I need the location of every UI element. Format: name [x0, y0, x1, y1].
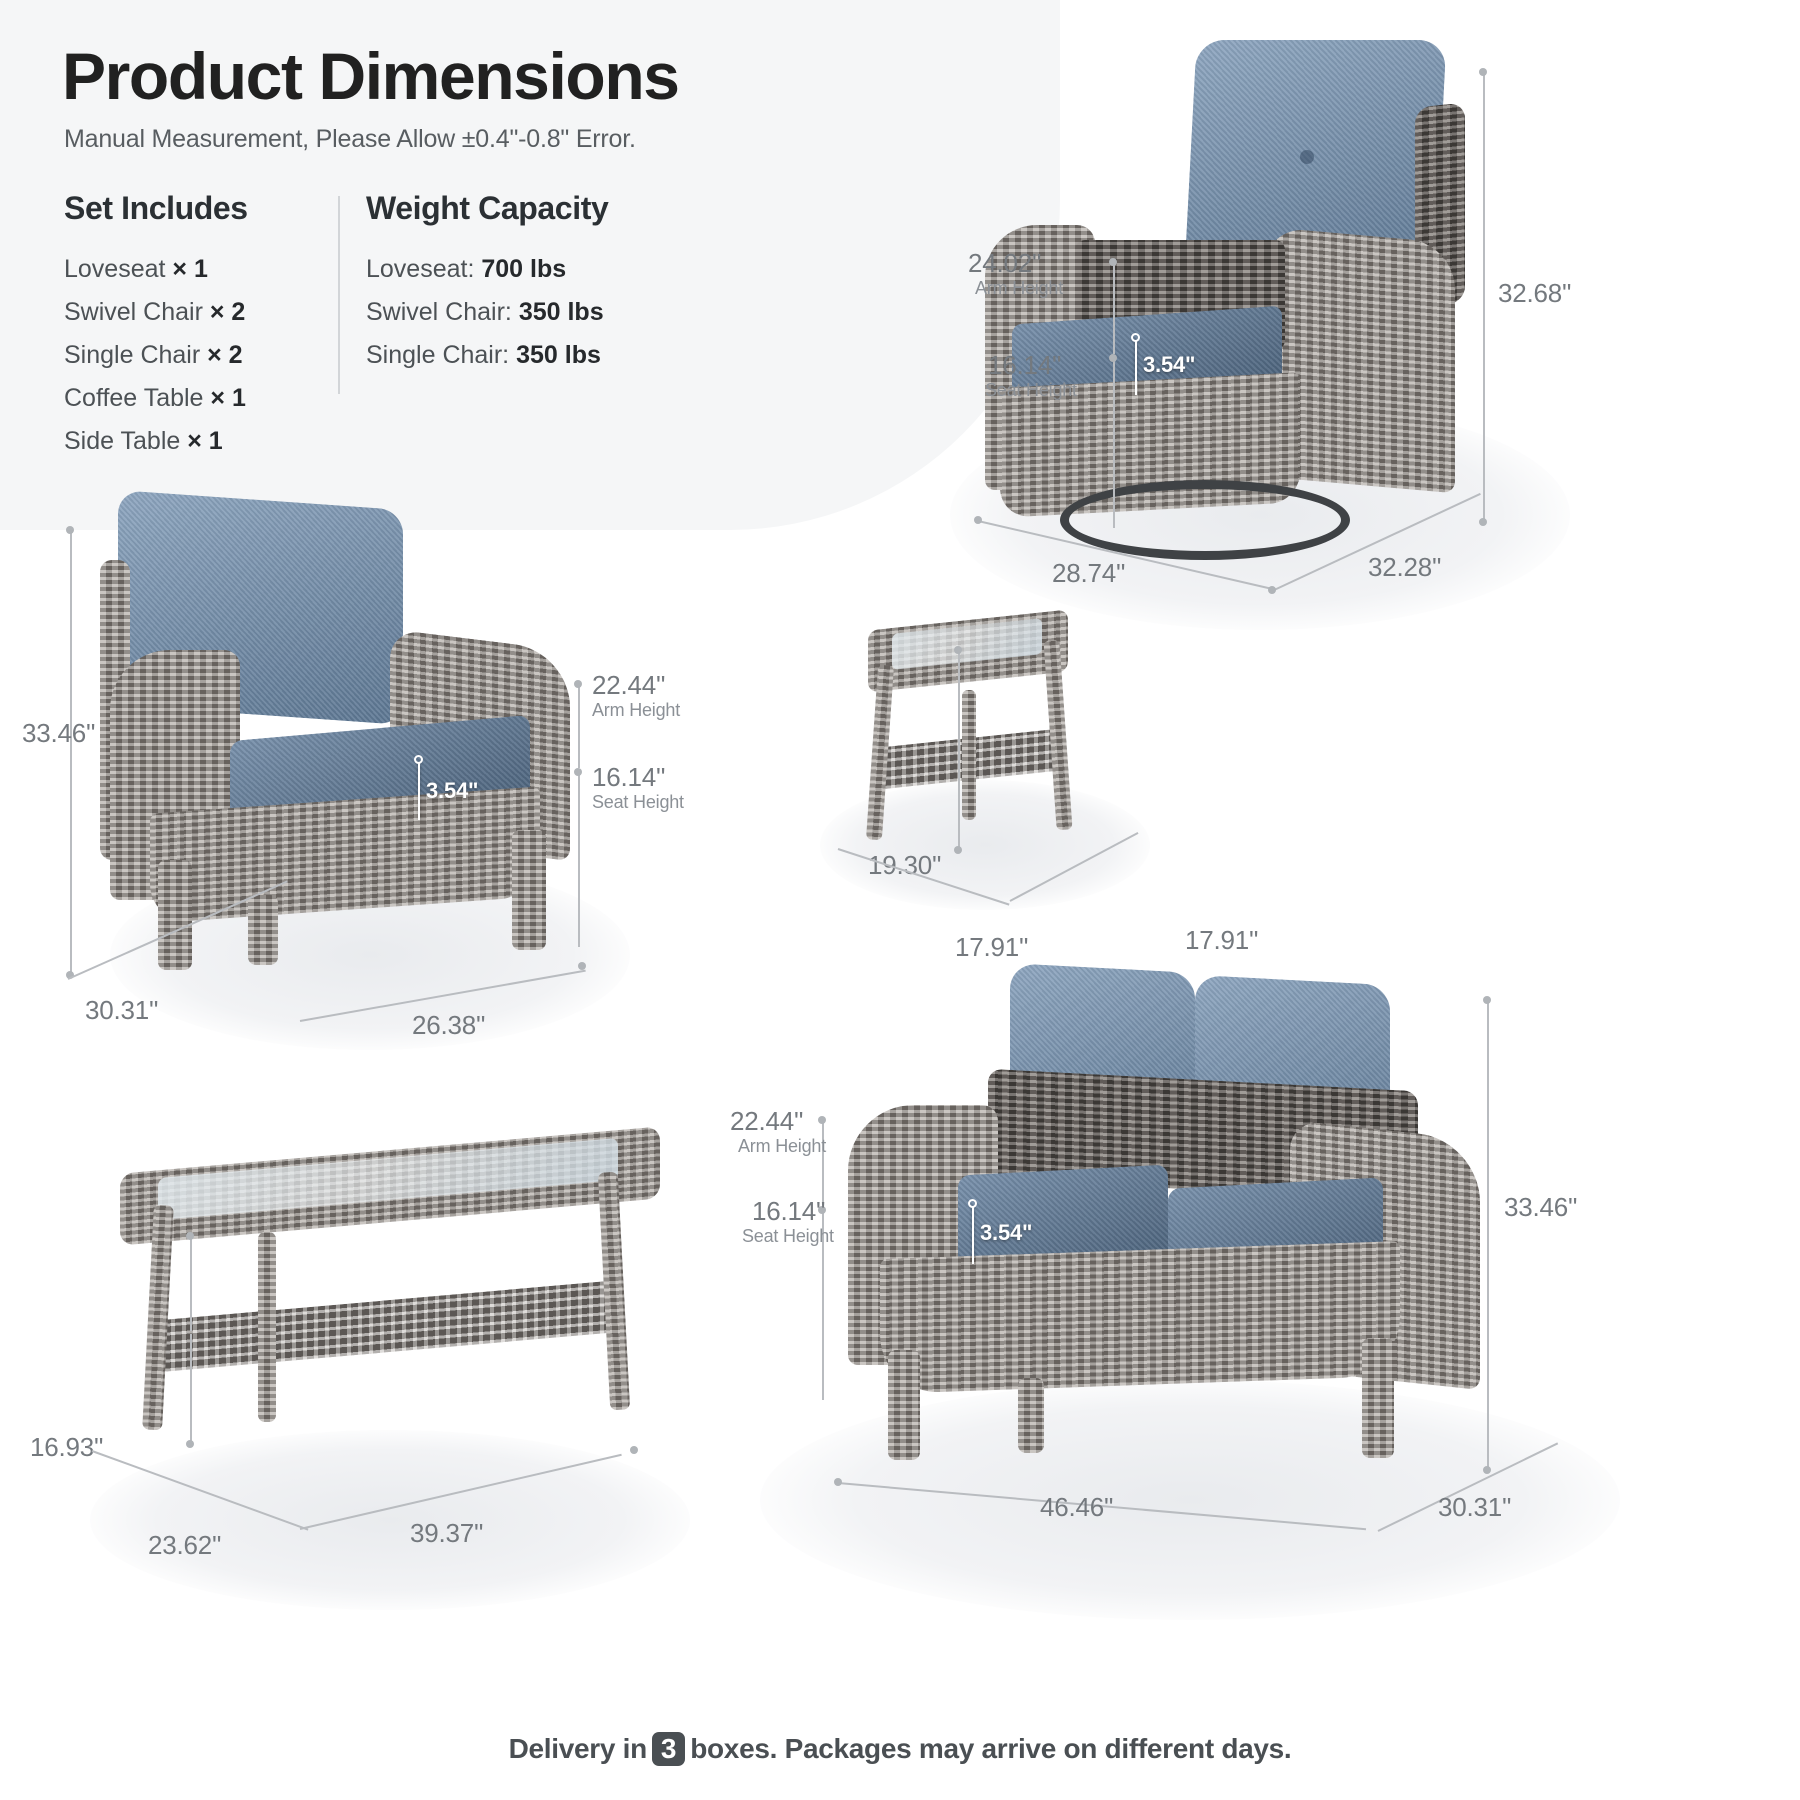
set-item-name: Single Chair	[64, 341, 200, 369]
dim-tick	[974, 516, 982, 524]
side-table-leg	[962, 690, 976, 820]
weight-capacity-heading: Weight Capacity	[366, 190, 608, 227]
capacity-item-value: 350 lbs	[516, 341, 601, 369]
swivel-total-height-value: 32.68"	[1498, 278, 1571, 309]
dim-line	[958, 650, 960, 850]
swivel-seat-height-value: 16.14"	[988, 350, 1061, 381]
dim-tick	[834, 1478, 842, 1486]
page-title: Product Dimensions	[62, 38, 679, 114]
loveseat-width-value: 46.46"	[1040, 1492, 1113, 1523]
swivel-width-value: 28.74"	[1052, 558, 1125, 589]
dim-tick	[1483, 996, 1491, 1004]
dim-line	[578, 772, 580, 947]
set-item-name: Loveseat	[64, 255, 165, 283]
box-count-badge: 3	[652, 1732, 685, 1766]
capacity-item-value: 700 lbs	[481, 255, 566, 283]
coffee-table-shadow	[90, 1430, 690, 1610]
loveseat-seat-height-caption: Seat Height	[742, 1226, 834, 1247]
dim-tick	[1479, 68, 1487, 76]
single-chair-cushion-thickness-value: 3.54"	[426, 778, 478, 804]
dim-tick	[66, 526, 74, 534]
set-item-qty: × 2	[207, 341, 242, 369]
coffee-table-leg	[258, 1232, 276, 1422]
dim-tick	[186, 1440, 194, 1448]
dim-tick	[954, 646, 962, 654]
loveseat-arm-height-caption: Arm Height	[738, 1136, 826, 1157]
list-item: Coffee Table × 1	[64, 377, 246, 420]
set-item-qty: × 2	[210, 298, 245, 326]
list-item: Swivel Chair × 2	[64, 291, 246, 334]
single-chair-leg	[512, 830, 546, 950]
dim-line	[190, 1334, 192, 1444]
set-includes-heading: Set Includes	[64, 190, 248, 227]
swivel-arm-height-value: 24.02"	[968, 248, 1041, 279]
capacity-item-value: 350 lbs	[519, 298, 604, 326]
loveseat-leg	[1362, 1338, 1394, 1458]
dim-tick	[1131, 333, 1140, 342]
swivel-arm-height-caption: Arm Height	[975, 278, 1063, 299]
weight-capacity-list: Loveseat: 700 lbs Swivel Chair: 350 lbs …	[366, 248, 604, 377]
dim-tick	[414, 755, 423, 764]
single-chair-width-value: 26.38"	[412, 1010, 485, 1041]
list-item: Loveseat × 1	[64, 248, 246, 291]
delivery-suffix: boxes. Packages may arrive on different …	[690, 1733, 1291, 1764]
page-subtitle: Manual Measurement, Please Allow ±0.4"-0…	[64, 125, 636, 154]
set-item-qty: × 1	[187, 427, 222, 455]
single-chair-total-height-value: 33.46"	[22, 718, 95, 749]
dim-tick	[1109, 258, 1117, 266]
dim-tick	[1479, 518, 1487, 526]
coffee-table-lower-shelf	[160, 1280, 620, 1372]
delivery-prefix: Delivery in	[509, 1733, 647, 1764]
dim-line	[190, 1236, 192, 1331]
dim-line	[1487, 1000, 1489, 1470]
swivel-seat-height-caption: Seat Height	[985, 380, 1077, 401]
set-item-qty: × 1	[172, 255, 207, 283]
single-chair-depth-value: 30.31"	[85, 995, 158, 1026]
side-table-depth-value: 17.91"	[955, 932, 1028, 963]
loveseat-skirt	[880, 1241, 1400, 1394]
capacity-item-name: Swivel Chair:	[366, 298, 512, 326]
single-chair-arm-height-caption: Arm Height	[592, 700, 680, 721]
loveseat-leg	[888, 1350, 920, 1460]
dim-tick	[1109, 354, 1117, 362]
coffee-table-width-value: 39.37"	[410, 1518, 483, 1549]
side-table-height-value: 19.30"	[868, 850, 941, 881]
set-item-qty: × 1	[210, 384, 245, 412]
dim-tick	[954, 846, 962, 854]
list-item: Loveseat: 700 lbs	[366, 248, 604, 291]
dim-tick	[630, 1446, 638, 1454]
dim-tick	[1483, 1466, 1491, 1474]
swivel-chair-tuft	[1300, 150, 1314, 164]
single-chair-arm-height-value: 22.44"	[592, 670, 665, 701]
dim-tick	[578, 962, 586, 970]
single-chair-seat-height-value: 16.14"	[592, 762, 665, 793]
dim-tick	[818, 1116, 826, 1124]
set-item-name: Coffee Table	[64, 384, 203, 412]
infographic-canvas: Product Dimensions Manual Measurement, P…	[0, 0, 1800, 1800]
dim-tick	[574, 768, 582, 776]
swivel-depth-value: 32.28"	[1368, 552, 1441, 583]
list-item: Single Chair × 2	[64, 334, 246, 377]
dim-tick	[186, 1232, 194, 1240]
loveseat-depth-value: 30.31"	[1438, 1492, 1511, 1523]
loveseat-total-height-value: 33.46"	[1504, 1192, 1577, 1223]
single-chair-leg	[248, 895, 278, 965]
list-item: Single Chair: 350 lbs	[366, 334, 604, 377]
dim-line	[418, 762, 420, 820]
loveseat-seat-height-value: 16.14"	[752, 1196, 825, 1227]
list-item: Side Table × 1	[64, 420, 246, 463]
dim-line	[578, 684, 580, 768]
loveseat-arm-height-value: 22.44"	[730, 1106, 803, 1137]
list-item: Swivel Chair: 350 lbs	[366, 291, 604, 334]
capacity-item-name: Single Chair:	[366, 341, 509, 369]
section-divider	[338, 196, 340, 394]
coffee-table-height-value: 16.93"	[30, 1432, 103, 1463]
dim-line	[1135, 340, 1137, 395]
loveseat-cushion-thickness-value: 3.54"	[980, 1220, 1032, 1246]
loveseat-leg	[1018, 1378, 1044, 1453]
delivery-note: Delivery in3boxes. Packages may arrive o…	[0, 1732, 1800, 1766]
dim-line	[822, 1120, 824, 1205]
dim-tick	[968, 1199, 977, 1208]
dim-line	[1483, 72, 1485, 522]
dim-tick	[1268, 586, 1276, 594]
dim-line	[1113, 262, 1115, 354]
dim-line	[1113, 358, 1115, 528]
dim-tick	[574, 680, 582, 688]
side-table-width-value: 17.91"	[1185, 925, 1258, 956]
single-chair-leg	[158, 860, 192, 970]
swivel-cushion-thickness-value: 3.54"	[1143, 352, 1195, 378]
set-includes-list: Loveseat × 1 Swivel Chair × 2 Single Cha…	[64, 248, 246, 463]
single-chair-seat-height-caption: Seat Height	[592, 792, 684, 813]
dim-line	[972, 1206, 974, 1264]
set-item-name: Side Table	[64, 427, 180, 455]
coffee-table-depth-value: 23.62"	[148, 1530, 221, 1561]
set-item-name: Swivel Chair	[64, 298, 203, 326]
dim-line	[70, 530, 72, 975]
capacity-item-name: Loveseat:	[366, 255, 474, 283]
